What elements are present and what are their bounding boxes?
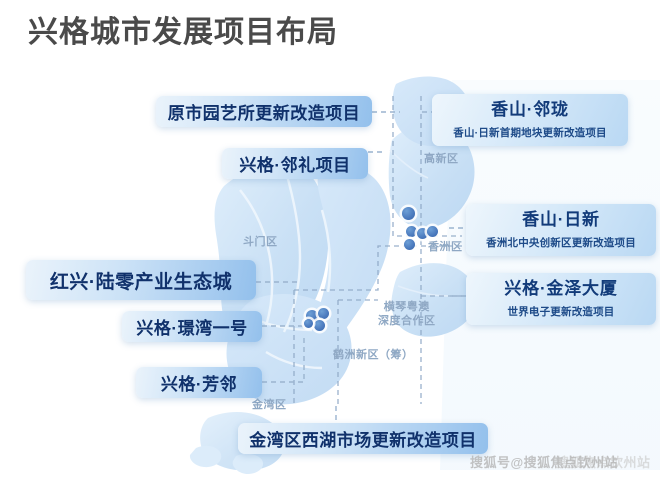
- district-label-hengqin-line2: 深度合作区: [378, 314, 436, 328]
- card-xiangshan-rixin[interactable]: 香山·日新 香洲北中央创新区更新改造项目: [466, 204, 656, 256]
- district-label-hezhou: 鹤洲新区（筹）: [333, 348, 414, 362]
- label-xingge-fanglin[interactable]: 兴格·芳邻: [136, 367, 262, 398]
- infographic-canvas: 兴格城市发展项目布局: [0, 0, 660, 481]
- land-islet-2: [233, 454, 263, 474]
- card-xiangshan-linglong-sub: 香山·日新首期地块更新改造项目: [453, 126, 607, 140]
- card-xingge-jinze-sub: 世界电子更新改造项目: [508, 305, 615, 319]
- district-label-xiangzhouqu: 香洲区: [428, 240, 463, 254]
- label-xingge-linli[interactable]: 兴格·邻礼项目: [222, 148, 368, 179]
- label-xingge-jingwan[interactable]: 兴格·璟湾一号: [122, 311, 262, 342]
- label-xingge-jingwan-text: 兴格·璟湾一号: [136, 314, 247, 339]
- dot-xiangzhou-north[interactable]: [402, 207, 415, 220]
- dot-jinwan-cluster-2[interactable]: [318, 308, 329, 319]
- label-xingge-linli-text: 兴格·邻礼项目: [239, 151, 350, 176]
- district-label-hengqin-line1: 横琴粤澳: [378, 300, 436, 314]
- dot-xiangzhou-south[interactable]: [404, 239, 415, 250]
- card-xiangshan-rixin-title: 香山·日新: [522, 209, 600, 230]
- card-xiangshan-linglong[interactable]: 香山·邻珑 香山·日新首期地块更新改造项目: [432, 94, 628, 146]
- dot-xiangzhou-mid-3[interactable]: [427, 226, 438, 237]
- label-yuanshi-yuanyisuo[interactable]: 原市园艺所更新改造项目: [156, 96, 372, 127]
- card-xingge-jinze-title: 兴格·金泽大厦: [504, 278, 617, 299]
- watermark: 搜狐号@搜狐焦点钦州站: [470, 452, 618, 471]
- dot-xiangzhou-mid-1[interactable]: [406, 226, 417, 237]
- district-label-jinwanqu: 金湾区: [252, 398, 287, 412]
- land-islet-1: [190, 446, 221, 467]
- district-label-hengqin: 横琴粤澳 深度合作区: [378, 300, 436, 328]
- label-jinwan-xihu-text: 金湾区西湖市场更新改造项目: [249, 426, 477, 451]
- dot-jinwan-cluster-3[interactable]: [314, 320, 325, 331]
- district-label-gaoxinqu: 高新区: [424, 152, 459, 166]
- card-xiangshan-rixin-sub: 香洲北中央创新区更新改造项目: [486, 236, 636, 250]
- label-yuanshi-yuanyisuo-text: 原市园艺所更新改造项目: [168, 99, 361, 124]
- district-label-doumenqu: 斗门区: [243, 235, 278, 249]
- card-xingge-jinze[interactable]: 兴格·金泽大厦 世界电子更新改造项目: [466, 273, 656, 325]
- card-xiangshan-linglong-title: 香山·邻珑: [491, 99, 569, 120]
- dot-jinwan-cluster-4[interactable]: [304, 319, 313, 328]
- label-xingge-fanglin-text: 兴格·芳邻: [161, 370, 237, 395]
- label-jinwan-xihu[interactable]: 金湾区西湖市场更新改造项目: [238, 423, 488, 454]
- label-hongxing-luling[interactable]: 红兴·陆零产业生态城: [26, 260, 256, 300]
- label-hongxing-luling-text: 红兴·陆零产业生态城: [50, 267, 232, 294]
